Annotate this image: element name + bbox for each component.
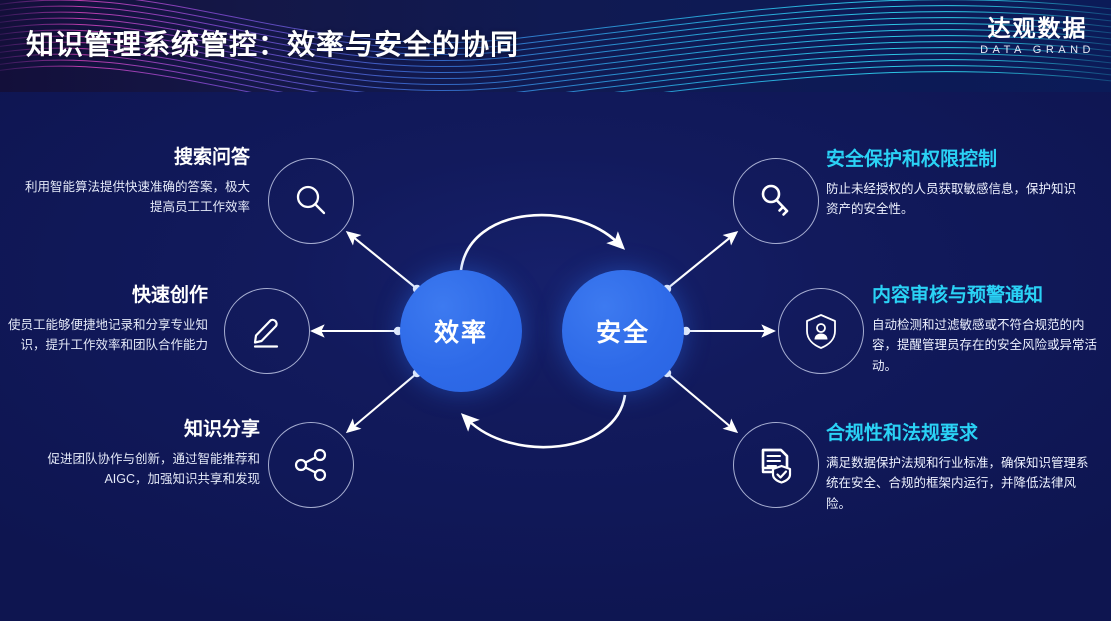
feature-search-desc: 利用智能算法提供快速准确的答案，极大提高员工工作效率 (20, 177, 250, 218)
hub-efficiency[interactable]: 效率 (400, 270, 522, 392)
feature-content-review-title: 内容审核与预警通知 (872, 284, 1102, 308)
shield-user-icon (798, 308, 844, 354)
feature-search: 搜索问答 利用智能算法提供快速准确的答案，极大提高员工工作效率 (20, 146, 250, 218)
icon-ring-pen[interactable] (224, 288, 310, 374)
header-band: 知识管理系统管控：效率与安全的协同 达观数据 DATA GRAND (0, 0, 1111, 92)
feature-share-desc: 促进团队协作与创新，通过智能推荐和AIGC，加强知识共享和发现 (10, 449, 260, 490)
feature-compliance: 合规性和法规要求 满足数据保护法规和行业标准，确保知识管理系统在安全、合规的框架… (826, 422, 1096, 515)
logo-en: DATA GRAND (980, 44, 1095, 56)
page-title: 知识管理系统管控：效率与安全的协同 (26, 23, 519, 63)
feature-compliance-title: 合规性和法规要求 (826, 422, 1096, 446)
feature-share-title: 知识分享 (10, 418, 260, 442)
icon-ring-shield-user[interactable] (778, 288, 864, 374)
search-icon (289, 179, 333, 223)
feature-access-control-title: 安全保护和权限控制 (826, 148, 1086, 172)
feature-access-control: 安全保护和权限控制 防止未经授权的人员获取敏感信息，保护知识资产的安全性。 (826, 148, 1086, 220)
arc-efficiency-to-security (461, 215, 618, 270)
line-eff-share (352, 374, 416, 428)
feature-create-desc: 使员工能够便捷地记录和分享专业知识，提升工作效率和团队合作能力 (8, 315, 208, 356)
line-eff-search (352, 236, 416, 288)
line-sec-key (668, 236, 732, 288)
feature-create-title: 快速创作 (8, 284, 208, 308)
arc-security-to-efficiency (468, 395, 625, 447)
feature-compliance-desc: 满足数据保护法规和行业标准，确保知识管理系统在安全、合规的框架内运行，并降低法律… (826, 453, 1096, 515)
brand-logo: 达观数据 DATA GRAND (980, 16, 1095, 56)
hub-efficiency-label: 效率 (434, 313, 488, 349)
feature-create: 快速创作 使员工能够便捷地记录和分享专业知识，提升工作效率和团队合作能力 (8, 284, 208, 356)
feature-search-title: 搜索问答 (20, 146, 250, 170)
logo-cn: 达观数据 (980, 16, 1095, 41)
feature-content-review-desc: 自动检测和过滤敏感或不符合规范的内容，提醒管理员存在的安全风险或异常活动。 (872, 315, 1102, 377)
icon-ring-share[interactable] (268, 422, 354, 508)
key-icon (754, 179, 798, 223)
icon-ring-search[interactable] (268, 158, 354, 244)
feature-share: 知识分享 促进团队协作与创新，通过智能推荐和AIGC，加强知识共享和发现 (10, 418, 260, 490)
hub-security[interactable]: 安全 (562, 270, 684, 392)
icon-ring-key[interactable] (733, 158, 819, 244)
pen-icon (245, 309, 289, 353)
hub-security-label: 安全 (596, 313, 650, 349)
share-icon (289, 443, 333, 487)
line-sec-doc (668, 374, 732, 428)
feature-access-control-desc: 防止未经授权的人员获取敏感信息，保护知识资产的安全性。 (826, 179, 1086, 220)
icon-ring-document-check[interactable] (733, 422, 819, 508)
feature-content-review: 内容审核与预警通知 自动检测和过滤敏感或不符合规范的内容，提醒管理员存在的安全风… (872, 284, 1102, 377)
document-check-icon (753, 442, 799, 488)
slide-canvas: 知识管理系统管控：效率与安全的协同 达观数据 DATA GRAND (0, 0, 1111, 621)
